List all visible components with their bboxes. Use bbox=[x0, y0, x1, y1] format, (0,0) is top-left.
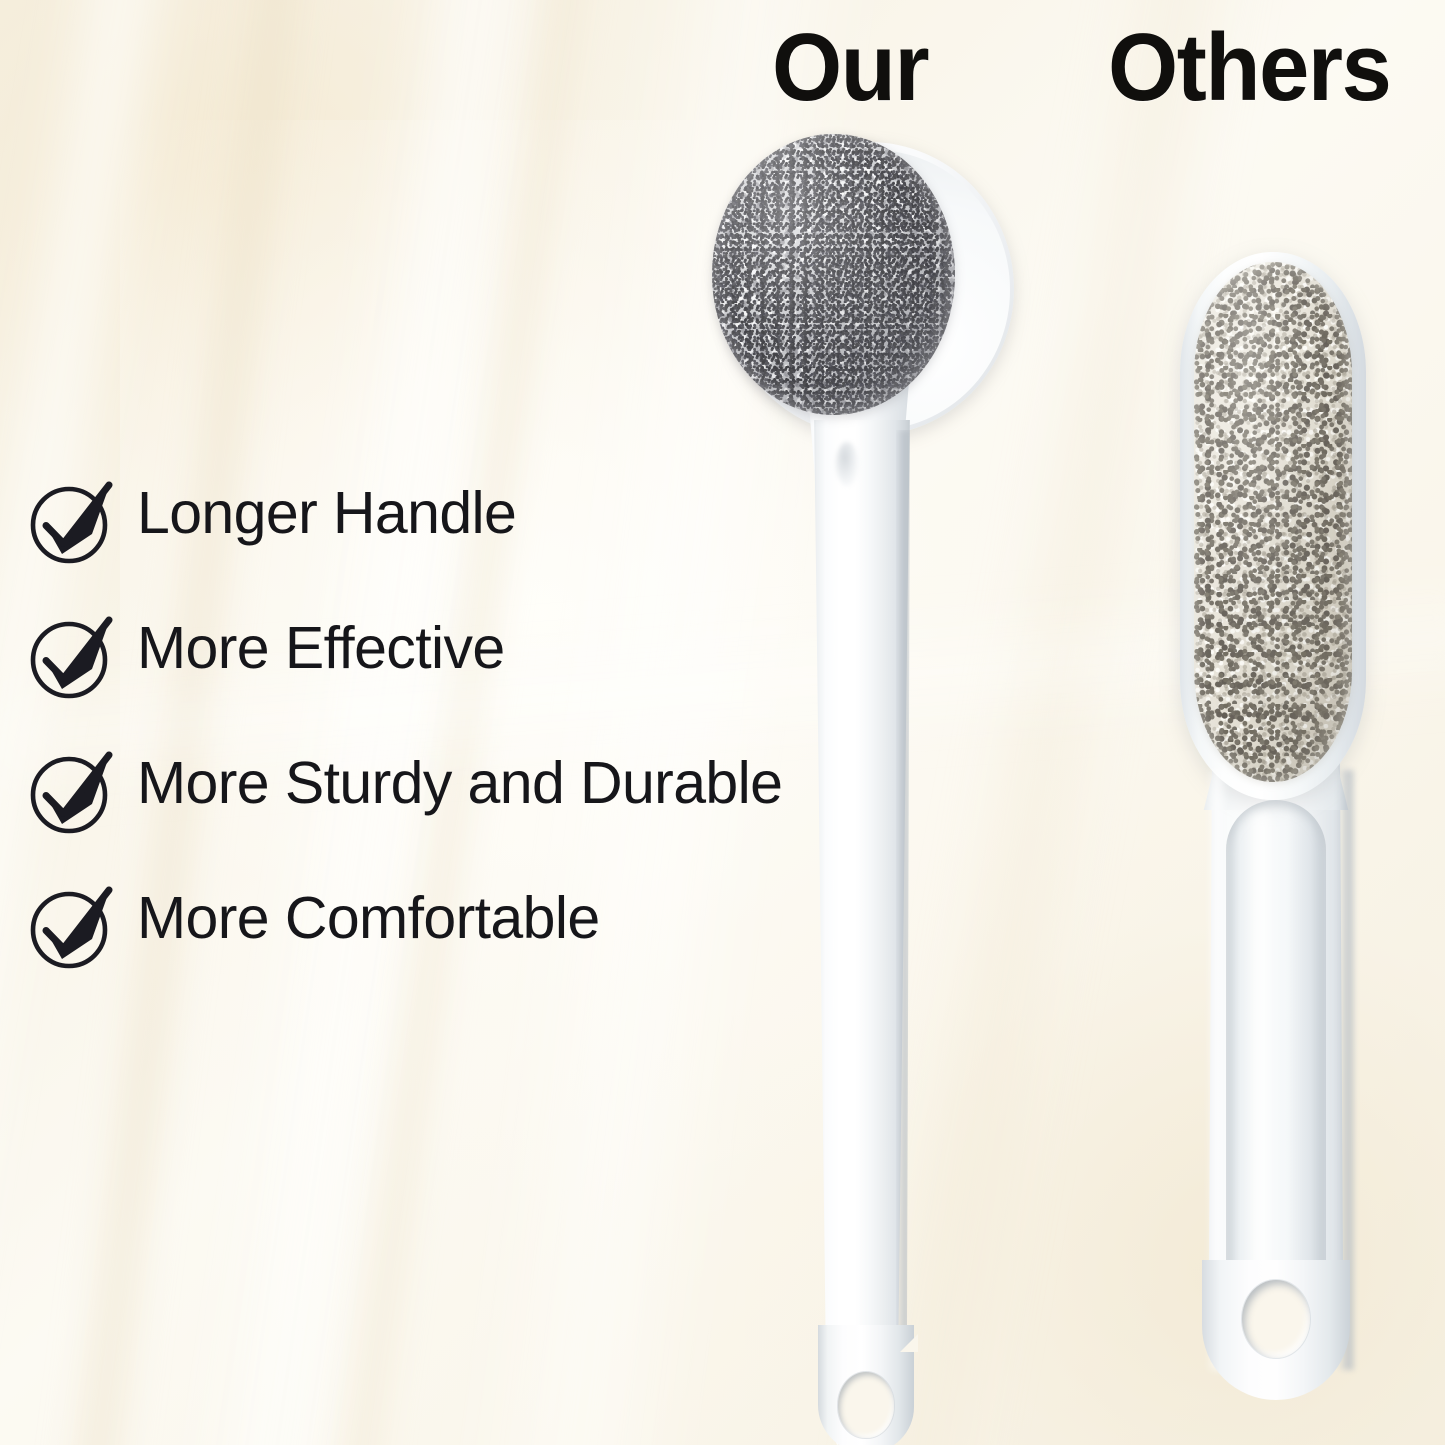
list-item-label: More Comfortable bbox=[137, 889, 600, 948]
others-column-heading: Others bbox=[1108, 20, 1390, 116]
our-handle bbox=[810, 420, 914, 1445]
our-handle-dimple bbox=[836, 442, 858, 486]
others-hang-hole bbox=[1242, 1280, 1310, 1358]
list-item-label: More Effective bbox=[137, 619, 505, 678]
check-circle-icon bbox=[28, 885, 114, 971]
our-pumice-stone-head bbox=[712, 134, 955, 415]
our-hang-hole bbox=[838, 1372, 894, 1438]
check-circle-icon bbox=[28, 480, 114, 566]
check-circle-icon bbox=[28, 750, 114, 836]
list-item-label: Longer Handle bbox=[137, 484, 516, 543]
others-product-photo bbox=[1150, 240, 1445, 1400]
product-comparison-image: Our Others Longer Handle More Ef bbox=[0, 0, 1445, 1445]
check-circle-icon bbox=[28, 615, 114, 701]
others-pumice-stone-head bbox=[1194, 262, 1352, 782]
our-product-photo bbox=[660, 120, 1060, 1445]
our-column-heading: Our bbox=[772, 20, 928, 116]
